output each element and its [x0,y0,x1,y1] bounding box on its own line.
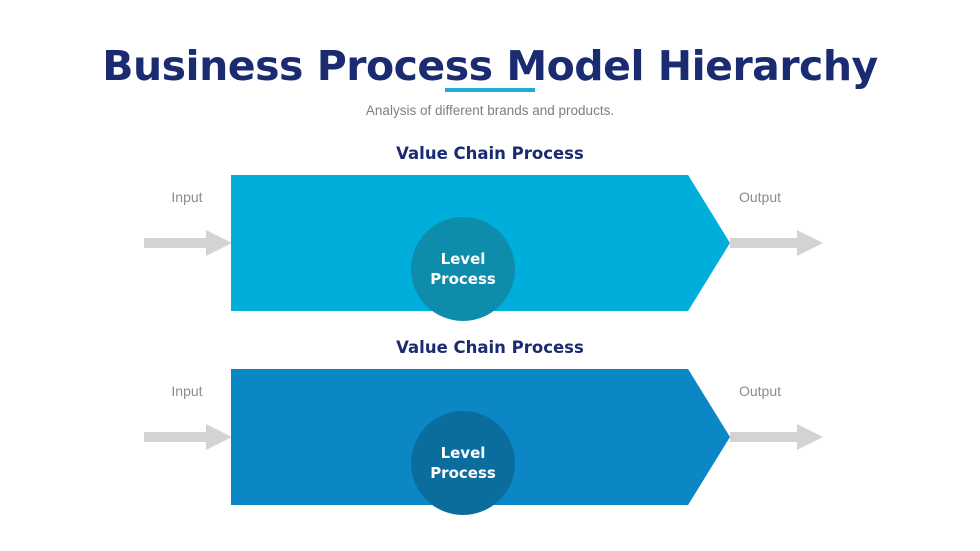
input-label-2: Input [142,382,232,400]
section-heading-1: Value Chain Process [0,144,980,164]
output-label-2: Output [715,382,805,400]
output-arrow-1 [730,230,823,256]
level-circle-line-1: Level [441,443,486,463]
accent-divider [445,88,535,92]
input-label-1: Input [142,188,232,206]
process-diagram-2: Input Level Process Output [0,364,980,510]
slide-canvas: Business Process Model Hierarchy Analysi… [0,0,980,551]
page-subtitle: Analysis of different brands and product… [0,90,980,120]
slide-header: Business Process Model Hierarchy Analysi… [0,42,980,120]
output-arrow-2 [730,424,823,450]
output-label-1: Output [715,188,805,206]
level-circle-line-1: Level [441,249,486,269]
level-circle-line-2: Process [430,269,496,289]
section-heading-2: Value Chain Process [0,338,980,358]
page-title: Business Process Model Hierarchy [0,42,980,90]
input-arrow-2 [144,424,232,450]
level-circle-line-2: Process [430,463,496,483]
level-process-circle-1: Level Process [411,217,515,321]
input-arrow-1 [144,230,232,256]
level-process-circle-2: Level Process [411,411,515,515]
process-diagram-1: Input Level Process Output [0,170,980,316]
